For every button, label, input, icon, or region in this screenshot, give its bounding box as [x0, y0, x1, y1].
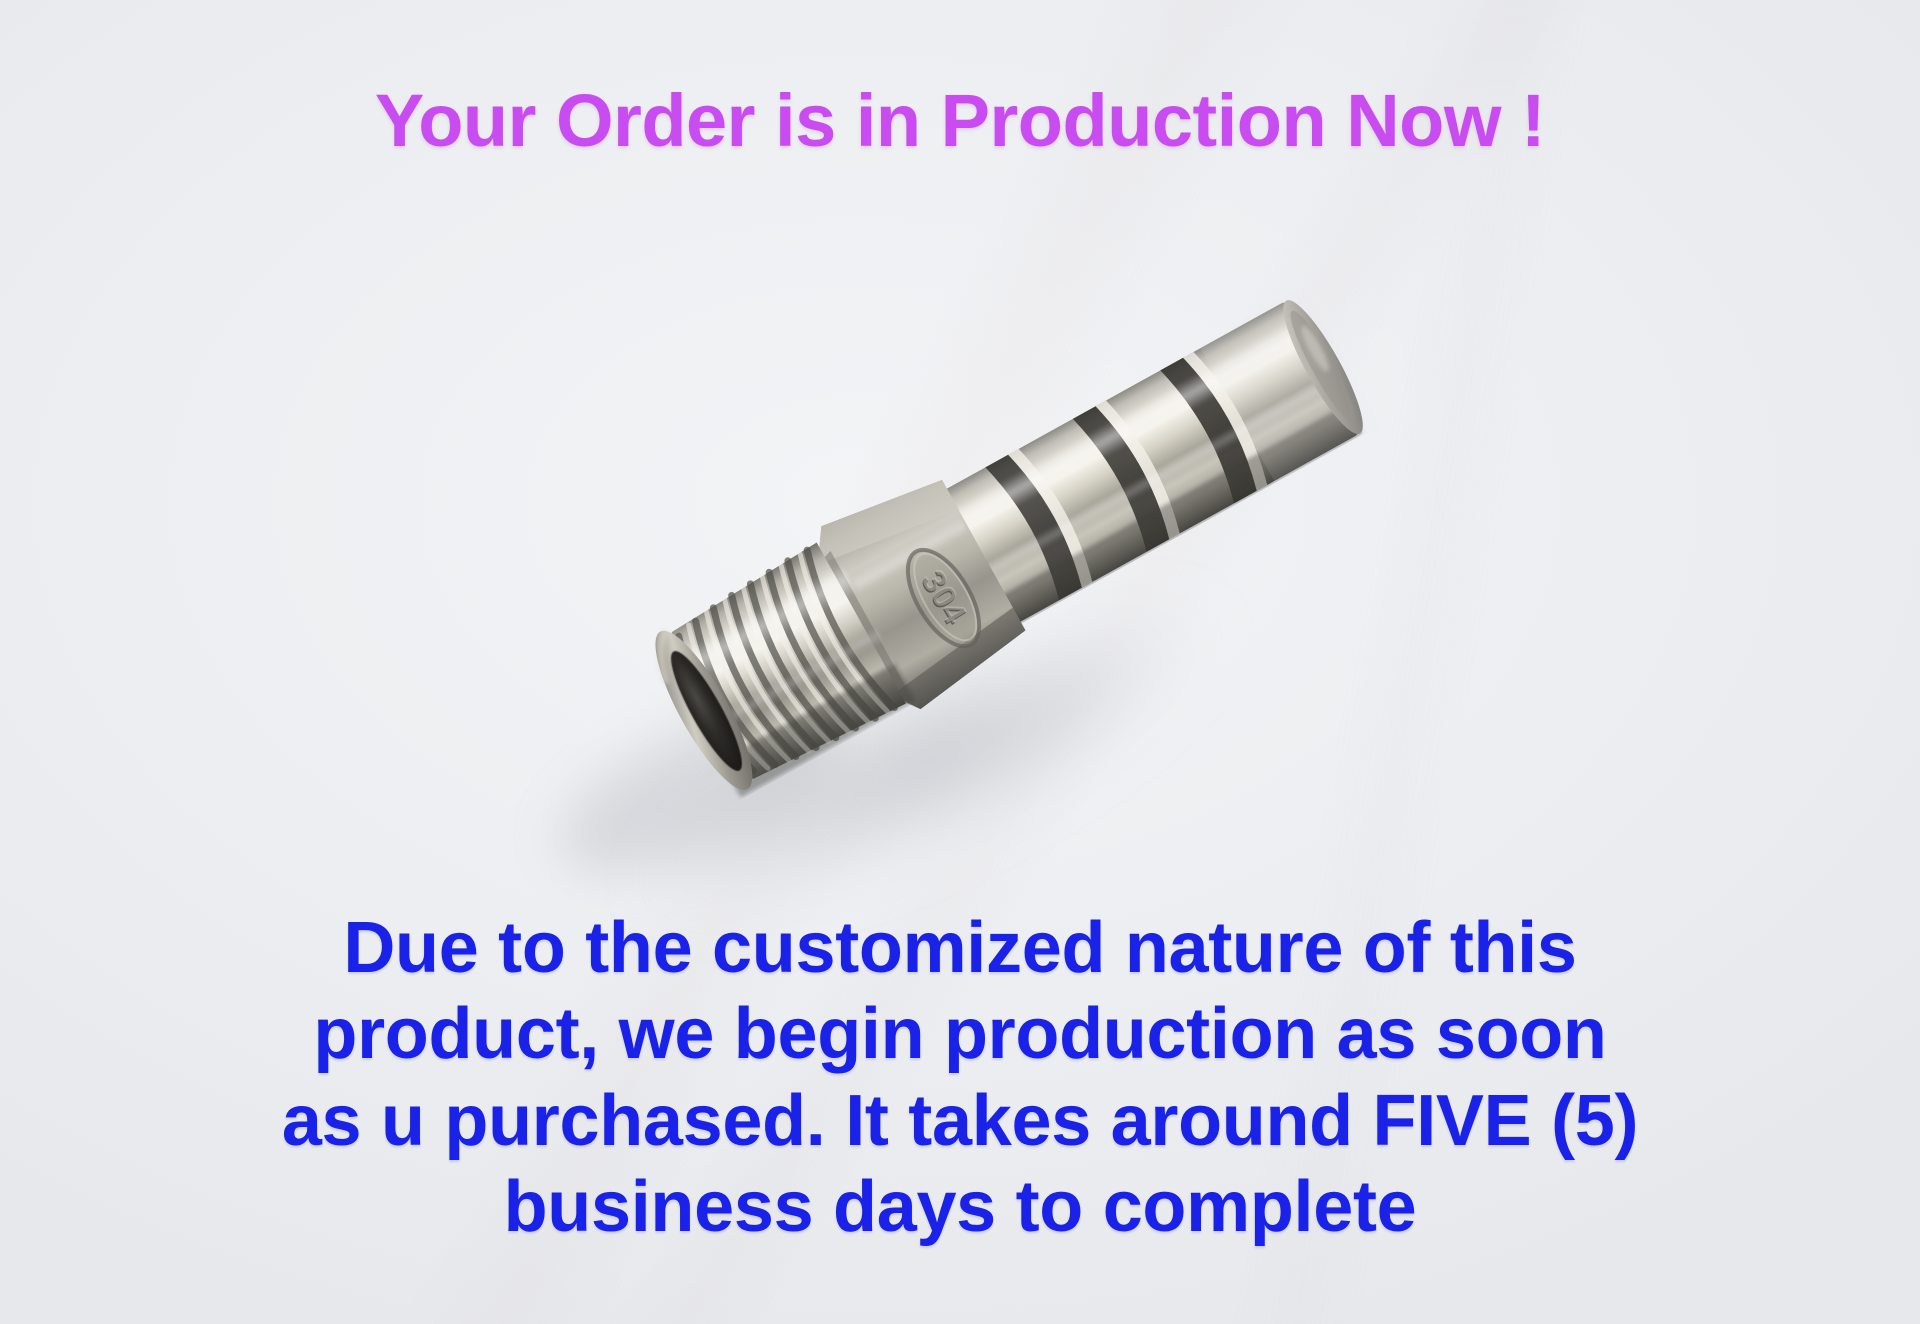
message-line-3: as u purchased. It takes around FIVE (5) [110, 1078, 1810, 1164]
message-line-2: product, we begin production as soon [110, 991, 1810, 1077]
page-title: Your Order is in Production Now ! [0, 78, 1920, 163]
production-notice-message: Due to the customized nature of this pro… [110, 905, 1810, 1251]
message-line-4: business days to complete [110, 1164, 1810, 1250]
message-line-1: Due to the customized nature of this [110, 905, 1810, 991]
promo-image-canvas: 304 304 [0, 0, 1920, 1324]
